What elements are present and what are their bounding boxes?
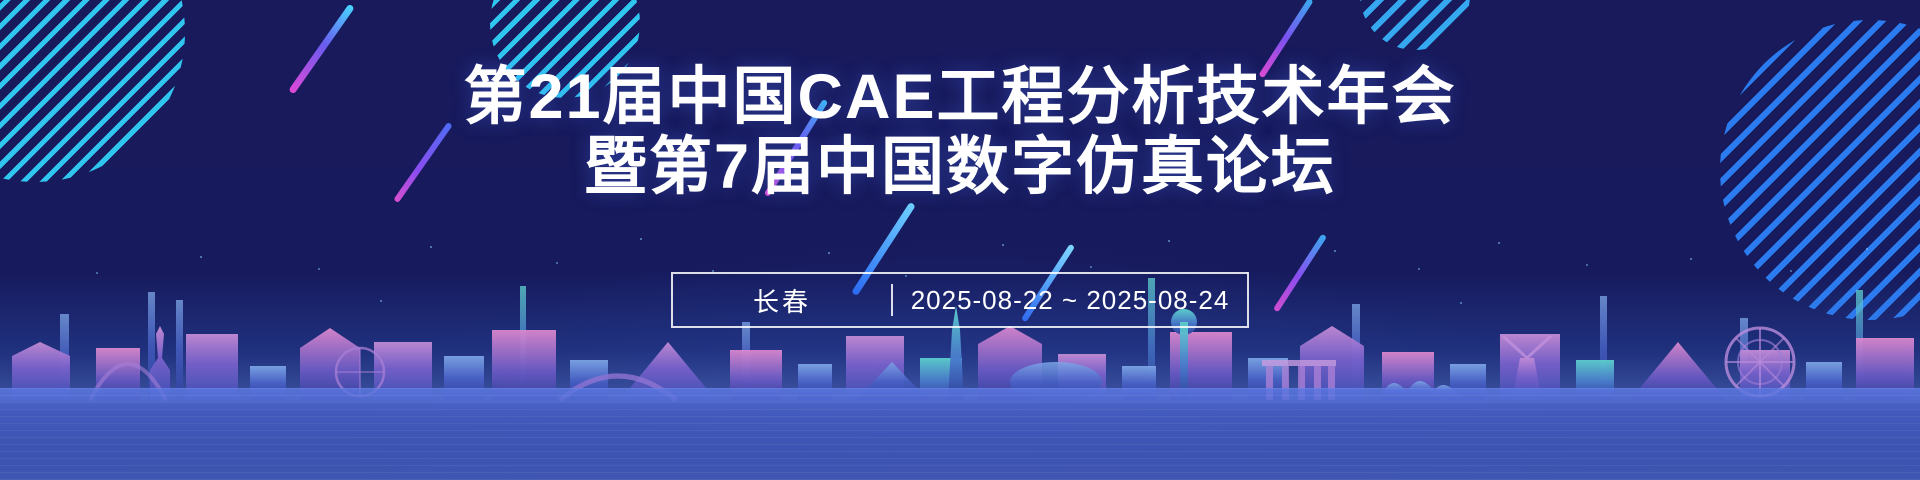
water-reflection: [0, 388, 1920, 480]
water-sheen: [0, 388, 1920, 480]
star-dot: [556, 262, 558, 264]
event-location: 长春: [673, 282, 891, 319]
star-dot: [318, 268, 320, 270]
star-dot: [1090, 266, 1092, 268]
event-info-box: 长春 2025-08-22 ~ 2025-08-24: [671, 272, 1249, 328]
cityscape-skyline-icon: [0, 230, 1920, 480]
title-line-1: 第21届中国CAE工程分析技术年会: [0, 62, 1920, 132]
star-dot: [1460, 302, 1462, 304]
event-date-range: 2025-08-22 ~ 2025-08-24: [893, 285, 1247, 316]
star-dot: [1334, 250, 1336, 252]
star-dot: [380, 300, 382, 302]
star-dot: [1586, 264, 1588, 266]
page-title: 第21届中国CAE工程分析技术年会 暨第7届中国数字仿真论坛: [0, 62, 1920, 202]
conference-banner: 第21届中国CAE工程分析技术年会 暨第7届中国数字仿真论坛 长春 2025-0…: [0, 0, 1920, 480]
star-dot: [640, 238, 642, 240]
star-dot: [200, 256, 202, 258]
star-dot: [1690, 258, 1692, 260]
star-dot: [1168, 240, 1170, 242]
diagonal-line-icon-5: [1273, 234, 1327, 313]
title-line-2: 暨第7届中国数字仿真论坛: [0, 132, 1920, 202]
star-dot: [1866, 248, 1868, 250]
star-dot: [1790, 270, 1792, 272]
star-dot: [1002, 244, 1004, 246]
star-dot: [96, 272, 98, 274]
star-dot: [828, 252, 830, 254]
star-dot: [1418, 268, 1420, 270]
star-dot: [430, 246, 432, 248]
striped-circle-icon-top-right: [1360, 0, 1470, 50]
star-dot: [1498, 242, 1500, 244]
